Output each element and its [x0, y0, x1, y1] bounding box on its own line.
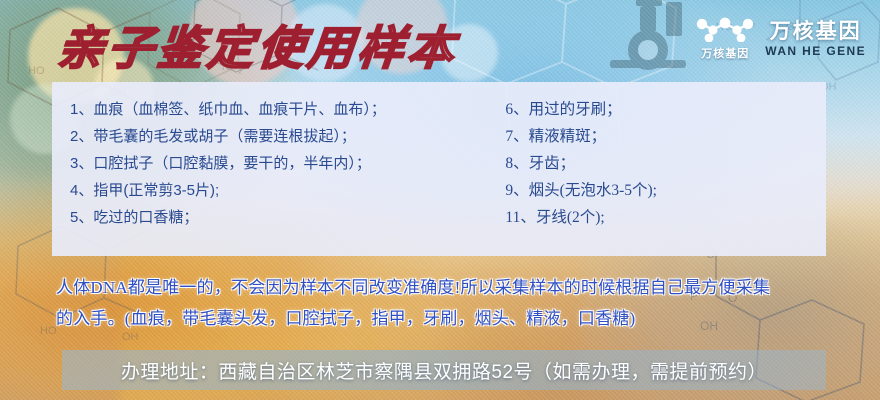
- sample-list-right-column: 6、用过的牙刷； 7、精液精斑； 8、牙齿； 9、烟头(无泡水3-5个); 11…: [497, 82, 826, 256]
- poster-canvas: HO OH NH 2 P O OH O HO OH O N: [0, 0, 880, 400]
- logo-name-en: WAN HE GENE: [765, 45, 866, 57]
- list-item: 5、吃过的口香糖；: [70, 204, 497, 231]
- list-item: 9、烟头(无泡水3-5个);: [505, 177, 826, 204]
- molecule-icon: [695, 16, 755, 42]
- logo-name-cn: 万核基因: [770, 21, 862, 42]
- list-item: 11、牙线(2个);: [505, 204, 826, 231]
- sample-list-panel: 1、血痕（血棉签、纸巾血、血痕干片、血布）； 2、带毛囊的毛发或胡子（需要连根拔…: [52, 82, 826, 256]
- note-line-1: 人体DNA都是唯一的，不会因为样本不同改变准确度!所以采集样本的时候根据自己最方…: [56, 272, 836, 303]
- logo-wordmark: 万核基因 WAN HE GENE: [765, 21, 866, 57]
- brand-logo: 万核基因 万核基因 WAN HE GENE: [695, 16, 866, 61]
- note-line-2: 的入手。(血痕，带毛囊头发，口腔拭子，指甲，牙刷，烟头、精液，口香糖): [56, 303, 836, 334]
- sample-list-left-column: 1、血痕（血棉签、纸巾血、血痕干片、血布）； 2、带毛囊的毛发或胡子（需要连根拔…: [52, 82, 497, 256]
- address-text: 办理地址：西藏自治区林芝市察隅县双拥路52号（如需办理，需提前预约）: [62, 350, 826, 390]
- logo-mark: 万核基因: [695, 16, 755, 61]
- note-paragraph: 人体DNA都是唯一的，不会因为样本不同改变准确度!所以采集样本的时候根据自己最方…: [56, 272, 836, 334]
- page-title: 亲子鉴定使用样本: [55, 12, 462, 78]
- list-item: 7、精液精斑；: [505, 123, 826, 150]
- list-item: 1、血痕（血棉签、纸巾血、血痕干片、血布）；: [70, 96, 497, 123]
- logo-mark-caption: 万核基因: [701, 45, 749, 61]
- list-item: 3、口腔拭子（口腔黏膜，要干的，半年内）；: [70, 150, 497, 177]
- list-item: 6、用过的牙刷；: [505, 96, 826, 123]
- list-item: 2、带毛囊的毛发或胡子（需要连根拔起）；: [70, 123, 497, 150]
- list-item: 4、指甲(正常剪3-5片);: [70, 177, 497, 204]
- list-item: 8、牙齿；: [505, 150, 826, 177]
